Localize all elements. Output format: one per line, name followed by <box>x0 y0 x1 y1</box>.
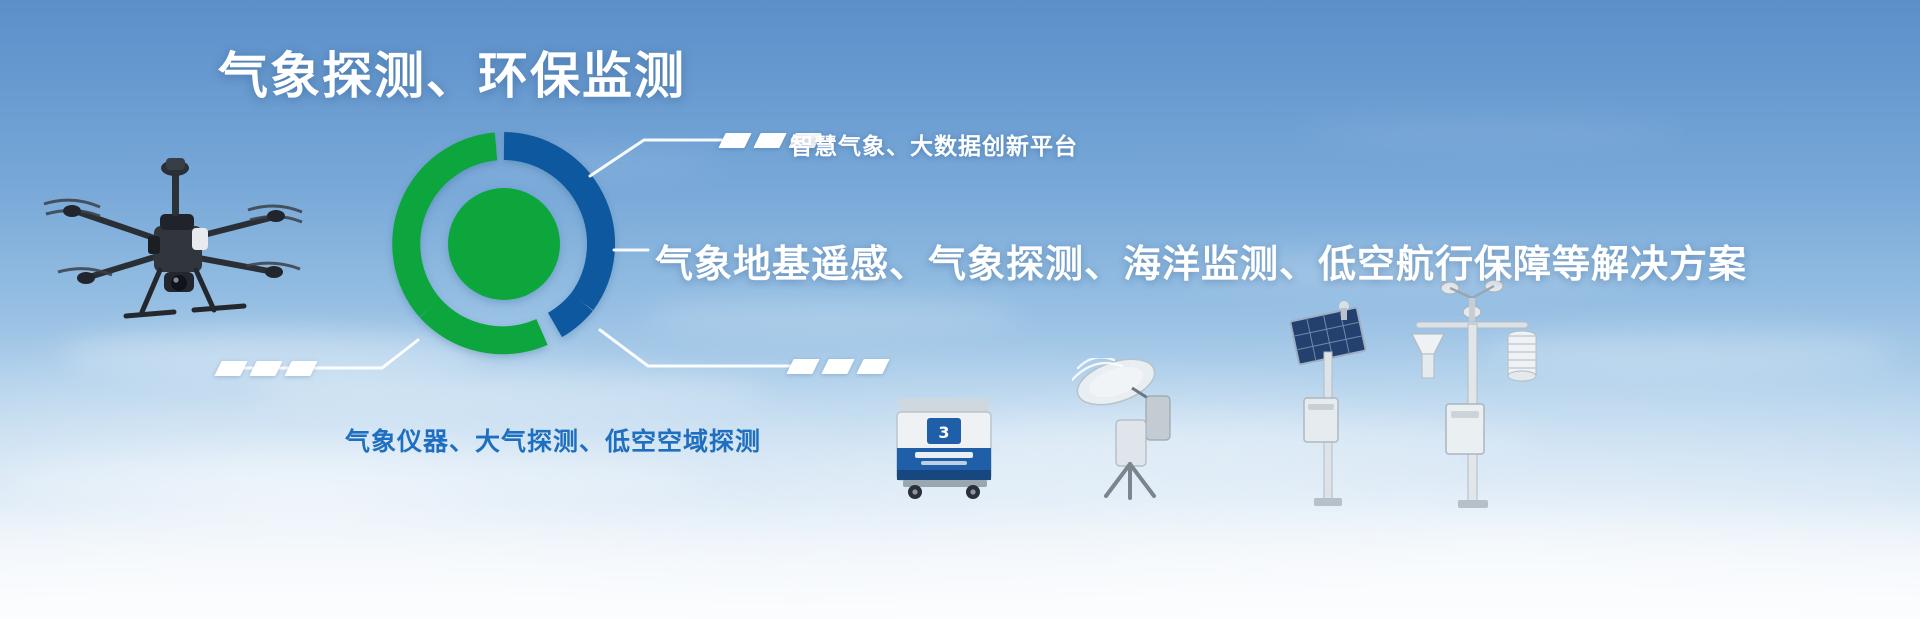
cloud-streak <box>250 372 770 410</box>
slash-marker-bottom-left <box>218 361 314 376</box>
cloud-streak <box>1300 120 1680 144</box>
slash-glyph <box>753 133 786 148</box>
slash-glyph <box>249 361 282 376</box>
cloud-streak <box>0 452 700 504</box>
drone <box>42 152 304 342</box>
slash-glyph <box>718 133 751 148</box>
slash-glyph <box>821 359 854 374</box>
slash-glyph <box>856 359 889 374</box>
solar-station <box>1286 300 1370 510</box>
slash-marker-bottom-right <box>790 359 886 374</box>
svg-text:3: 3 <box>938 423 949 442</box>
callout-bottom-left: 气象仪器、大气探测、低空空域探测 <box>345 422 761 458</box>
donut-ring-diagram <box>392 132 616 356</box>
slash-glyph <box>284 361 317 376</box>
slash-glyph <box>214 361 247 376</box>
cloud-streak <box>640 300 1020 334</box>
satellite-dish <box>1072 358 1190 500</box>
equipment-cart: 3 <box>893 392 997 500</box>
slash-glyph <box>786 359 819 374</box>
page-title: 气象探测、环保监测 <box>218 48 686 104</box>
horizon-haze <box>0 499 1920 619</box>
banner-stage: 3 <box>0 0 1920 619</box>
weather-station <box>1398 272 1546 512</box>
callout-top-right: 智慧气象、大数据创新平台 <box>790 127 1078 161</box>
callout-middle-right: 气象地基遥感、气象探测、海洋监测、低空航行保障等解决方案 <box>655 233 1747 288</box>
